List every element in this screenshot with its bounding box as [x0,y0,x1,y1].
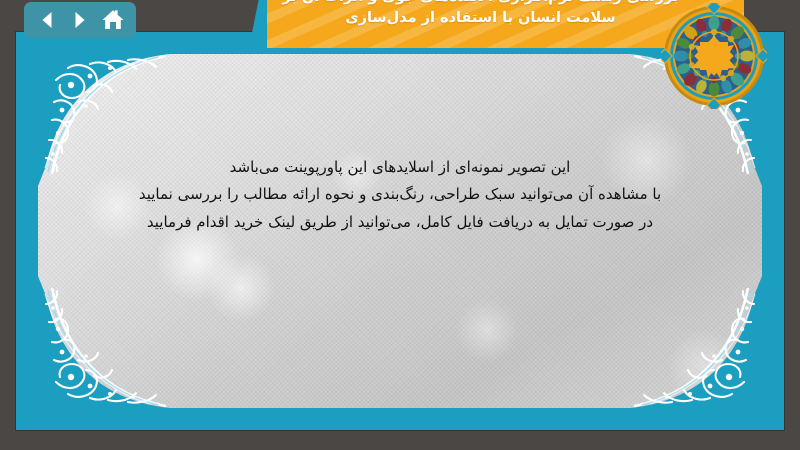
home-icon [101,9,125,31]
slide-content-panel: این تصویر نمونه‌ای از اسلایدهای این پاور… [38,54,762,408]
banner-accent-edge [249,0,267,48]
persian-medallion-ornament [661,3,767,109]
previous-slide-button[interactable] [33,6,61,34]
arabesque-corner-ornament-bottom-left [38,276,170,408]
home-button[interactable] [99,6,127,34]
body-line-3: در صورت تمایل به دریافت فایل کامل، می‌تو… [78,209,722,236]
arabesque-corner-ornament-bottom-right [630,276,762,408]
body-line-2: با مشاهده آن می‌توانید سبک طراحی، رنگ‌بن… [78,181,722,208]
slide-body-text: این تصویر نمونه‌ای از اسلایدهای این پاور… [78,154,722,236]
slide-viewer: این تصویر نمونه‌ای از اسلایدهای این پاور… [0,0,800,450]
next-slide-button[interactable] [66,6,94,34]
triangle-right-icon [69,9,91,31]
triangle-left-icon [36,9,58,31]
body-line-1: این تصویر نمونه‌ای از اسلایدهای این پاور… [78,154,722,181]
navigation-bar [24,2,136,38]
